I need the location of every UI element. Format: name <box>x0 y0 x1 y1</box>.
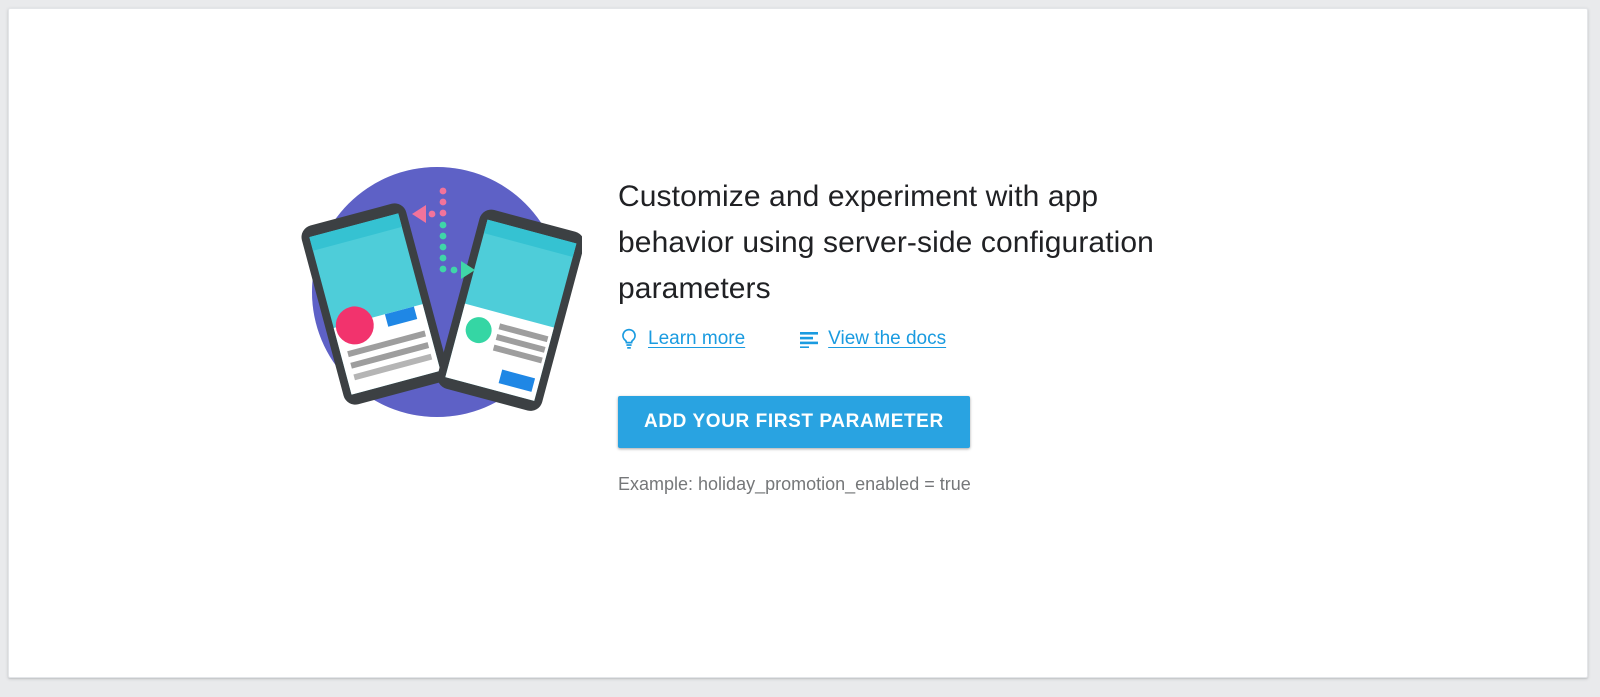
empty-state-panel: Customize and experiment with app behavi… <box>9 9 1587 677</box>
example-hint-text: Example: holiday_promotion_enabled = tru… <box>618 473 1258 495</box>
learn-more-link-label: Learn more <box>648 328 745 350</box>
empty-state-copy: Customize and experiment with app behavi… <box>618 174 1258 495</box>
page-title: Customize and experiment with app behavi… <box>618 174 1218 312</box>
view-docs-link-label: View the docs <box>828 328 946 350</box>
content-card: Customize and experiment with app behavi… <box>8 8 1588 678</box>
helper-links: Learn more View the docs <box>618 328 1258 350</box>
article-icon <box>798 328 820 350</box>
learn-more-link[interactable]: Learn more <box>618 328 745 350</box>
add-first-parameter-button[interactable]: ADD YOUR FIRST PARAMETER <box>618 396 970 448</box>
view-docs-link[interactable]: View the docs <box>798 328 946 350</box>
lightbulb-icon <box>618 328 640 350</box>
two-phones-sync-illustration <box>292 157 582 427</box>
